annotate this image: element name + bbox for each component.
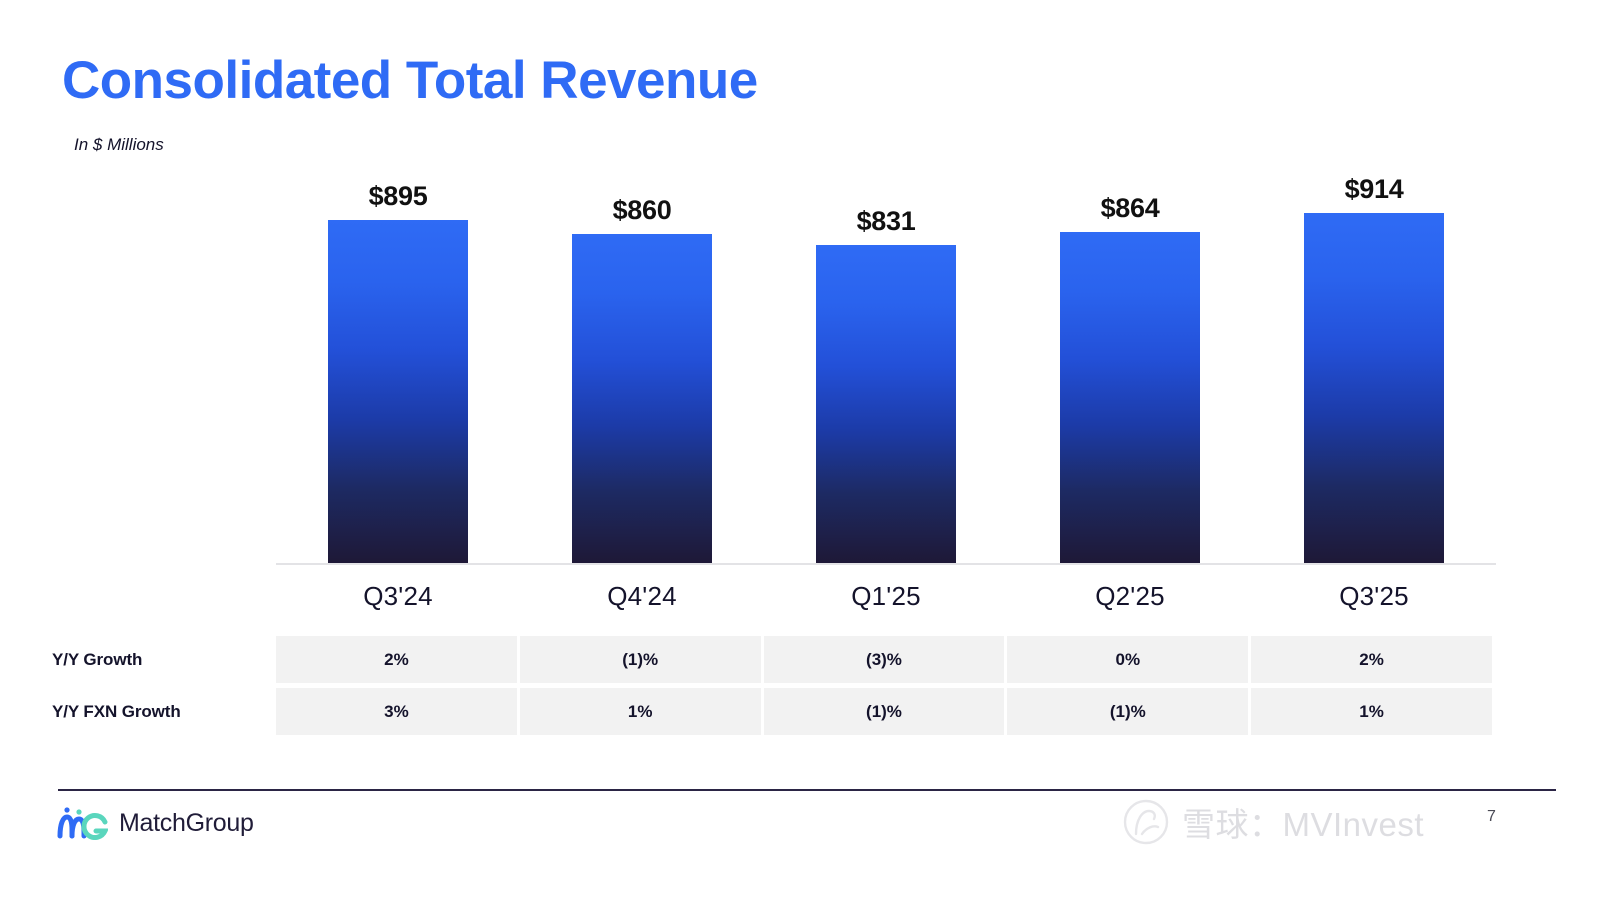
bar[interactable]	[1060, 232, 1200, 564]
table-cell: 3%	[276, 688, 517, 735]
table-cell: 2%	[276, 636, 517, 683]
x-axis-tick-label: Q3'25	[1252, 581, 1496, 612]
table-cell: 0%	[1007, 636, 1248, 683]
page-subtitle: In $ Millions	[74, 135, 164, 155]
table-cell: 2%	[1251, 636, 1492, 683]
growth-metrics-table: Y/Y Growth2%(1)%(3)%0%2%Y/Y FXN Growth3%…	[52, 636, 1492, 740]
table-cell: 1%	[520, 688, 761, 735]
bar-value-label: $914	[1252, 174, 1496, 205]
page-title: Consolidated Total Revenue	[62, 52, 758, 110]
x-axis-tick-label: Q3'24	[276, 581, 520, 612]
xueqiu-logo-icon	[1122, 798, 1170, 846]
bar[interactable]	[328, 220, 468, 564]
bar[interactable]	[572, 234, 712, 564]
slide-root: Consolidated Total Revenue In $ Millions…	[0, 0, 1624, 916]
brand-logo: MatchGroup	[56, 806, 254, 840]
bar[interactable]	[816, 245, 956, 564]
table-cell: (1)%	[764, 688, 1005, 735]
table-row-cells: 2%(1)%(3)%0%2%	[276, 636, 1492, 683]
table-cell: 1%	[1251, 688, 1492, 735]
watermark: 雪球：MVInvest	[1122, 798, 1424, 846]
bar-slot: $831	[764, 180, 1008, 564]
table-cell: (3)%	[764, 636, 1005, 683]
bar-value-label: $831	[764, 206, 1008, 237]
table-row-label: Y/Y FXN Growth	[52, 688, 276, 735]
table-row: Y/Y FXN Growth3%1%(1)%(1)%1%	[52, 688, 1492, 735]
chart-x-axis-labels: Q3'24Q4'24Q1'25Q2'25Q3'25	[276, 581, 1496, 623]
bar-chart-plot-area: $895$860$831$864$914	[276, 180, 1496, 564]
table-row-cells: 3%1%(1)%(1)%1%	[276, 688, 1492, 735]
bar[interactable]	[1304, 213, 1444, 564]
page-number: 7	[1487, 808, 1496, 826]
watermark-text: 雪球：MVInvest	[1182, 798, 1424, 846]
matchgroup-logo-icon	[56, 806, 108, 840]
bar-slot: $864	[1008, 180, 1252, 564]
bar-value-label: $864	[1008, 193, 1252, 224]
bar-slot: $860	[520, 180, 764, 564]
bar-value-label: $895	[276, 181, 520, 212]
x-axis-tick-label: Q4'24	[520, 581, 764, 612]
x-axis-tick-label: Q2'25	[1008, 581, 1252, 612]
chart-baseline-axis	[276, 563, 1496, 565]
table-cell: (1)%	[520, 636, 761, 683]
footer-divider	[58, 789, 1556, 791]
table-row-label: Y/Y Growth	[52, 636, 276, 683]
x-axis-tick-label: Q1'25	[764, 581, 1008, 612]
bar-value-label: $860	[520, 195, 764, 226]
brand-name-label: MatchGroup	[119, 809, 254, 838]
table-cell: (1)%	[1007, 688, 1248, 735]
bar-slot: $895	[276, 180, 520, 564]
table-row: Y/Y Growth2%(1)%(3)%0%2%	[52, 636, 1492, 683]
bar-slot: $914	[1252, 180, 1496, 564]
